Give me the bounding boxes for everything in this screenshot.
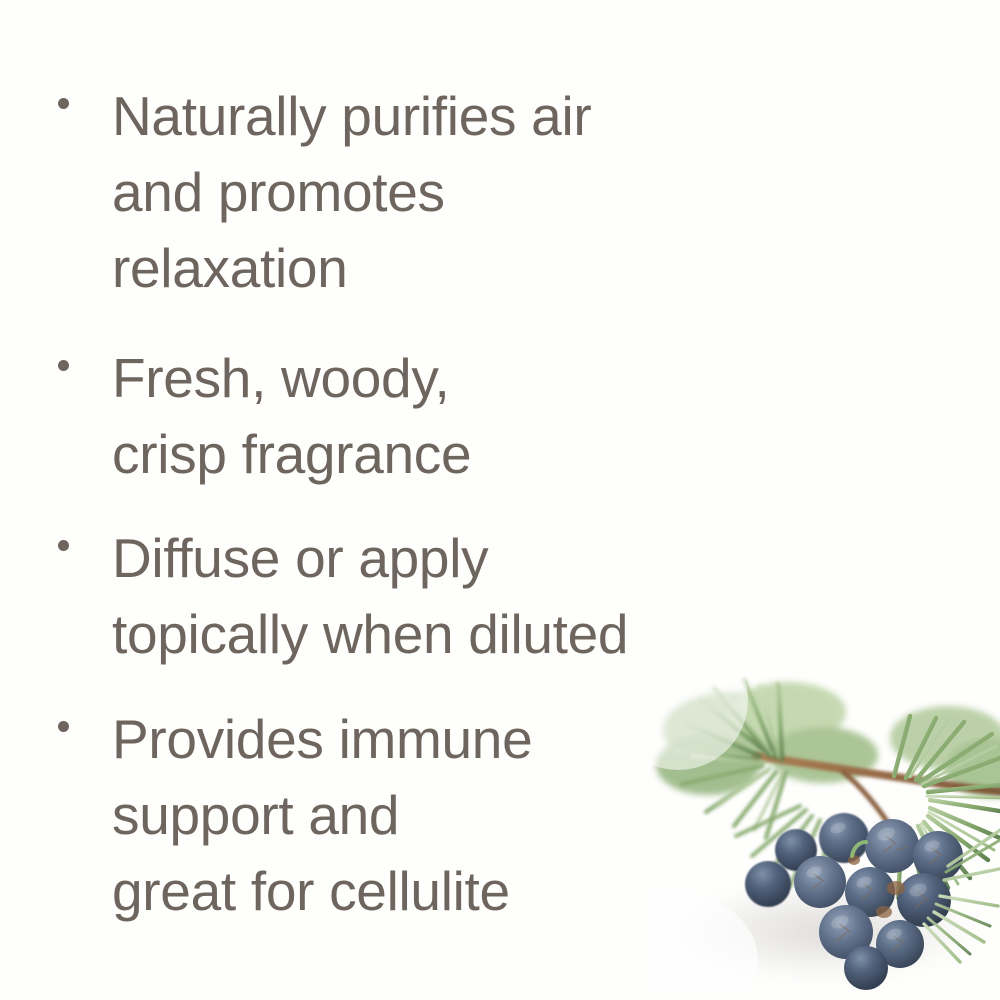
juniper-branch xyxy=(756,756,1000,866)
bullet-dot-icon xyxy=(58,360,69,371)
benefit-text: Provides immune support and great for ce… xyxy=(112,701,532,929)
benefit-text: Diffuse or apply topically when diluted xyxy=(112,520,628,672)
benefit-text: Fresh, woody, crisp fragrance xyxy=(112,340,471,492)
bullet-dot-icon xyxy=(58,98,69,109)
list-item: Naturally purifies air and promotes rela… xyxy=(58,78,591,306)
needles-mid xyxy=(676,680,798,838)
needles-lower-left xyxy=(736,806,830,890)
list-item: Fresh, woody, crisp fragrance xyxy=(58,340,471,492)
promo-panel: Naturally purifies air and promotes rela… xyxy=(0,0,1000,1000)
bullet-dot-icon xyxy=(58,721,69,732)
list-item: Diffuse or apply topically when diluted xyxy=(58,520,628,672)
background-foliage xyxy=(656,682,1000,798)
benefit-text: Naturally purifies air and promotes rela… xyxy=(112,78,591,306)
sprig-shadow xyxy=(680,886,970,976)
needles-right xyxy=(894,716,1000,898)
bullet-dot-icon xyxy=(58,540,69,551)
list-item: Provides immune support and great for ce… xyxy=(58,701,532,929)
